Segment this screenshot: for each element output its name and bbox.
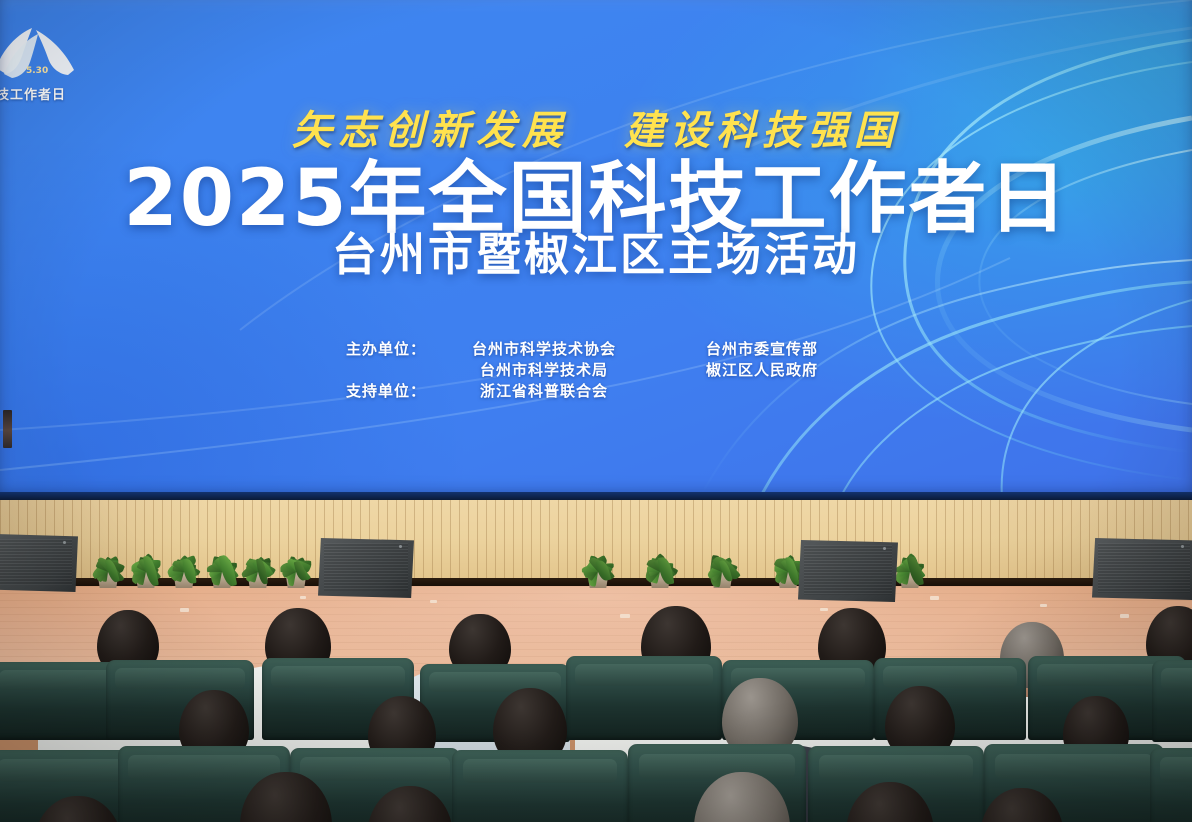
stage-monitor-speaker [798,540,898,602]
potted-plant [576,532,620,588]
auditorium-seat [1152,660,1192,742]
potted-plant [700,532,744,588]
auditorium-seat [452,750,628,822]
auditorium-seat [1150,748,1192,822]
monitor-indicator-led [399,545,402,548]
monitor-grille [0,539,72,585]
auditorium-seat [566,656,722,740]
photo-frame: 5.30 科技工作者日 矢志创新发展建设科技强国 2025年全国科技工作者日 台… [0,0,1192,822]
monitor-grille [1098,543,1190,593]
potted-plant [274,532,318,588]
monitor-grille [804,545,892,595]
monitor-indicator-led [63,541,66,544]
stage-monitor-speaker [0,534,78,592]
floor-paper-scrap [300,596,306,599]
audience-seating [0,600,1192,822]
stage-monitor-speaker [318,538,414,598]
monitor-grille [324,543,408,591]
monitor-indicator-led [1181,545,1184,548]
monitor-indicator-led [883,547,886,550]
stage-monitor-speaker [1092,538,1192,600]
potted-plant [638,532,682,588]
